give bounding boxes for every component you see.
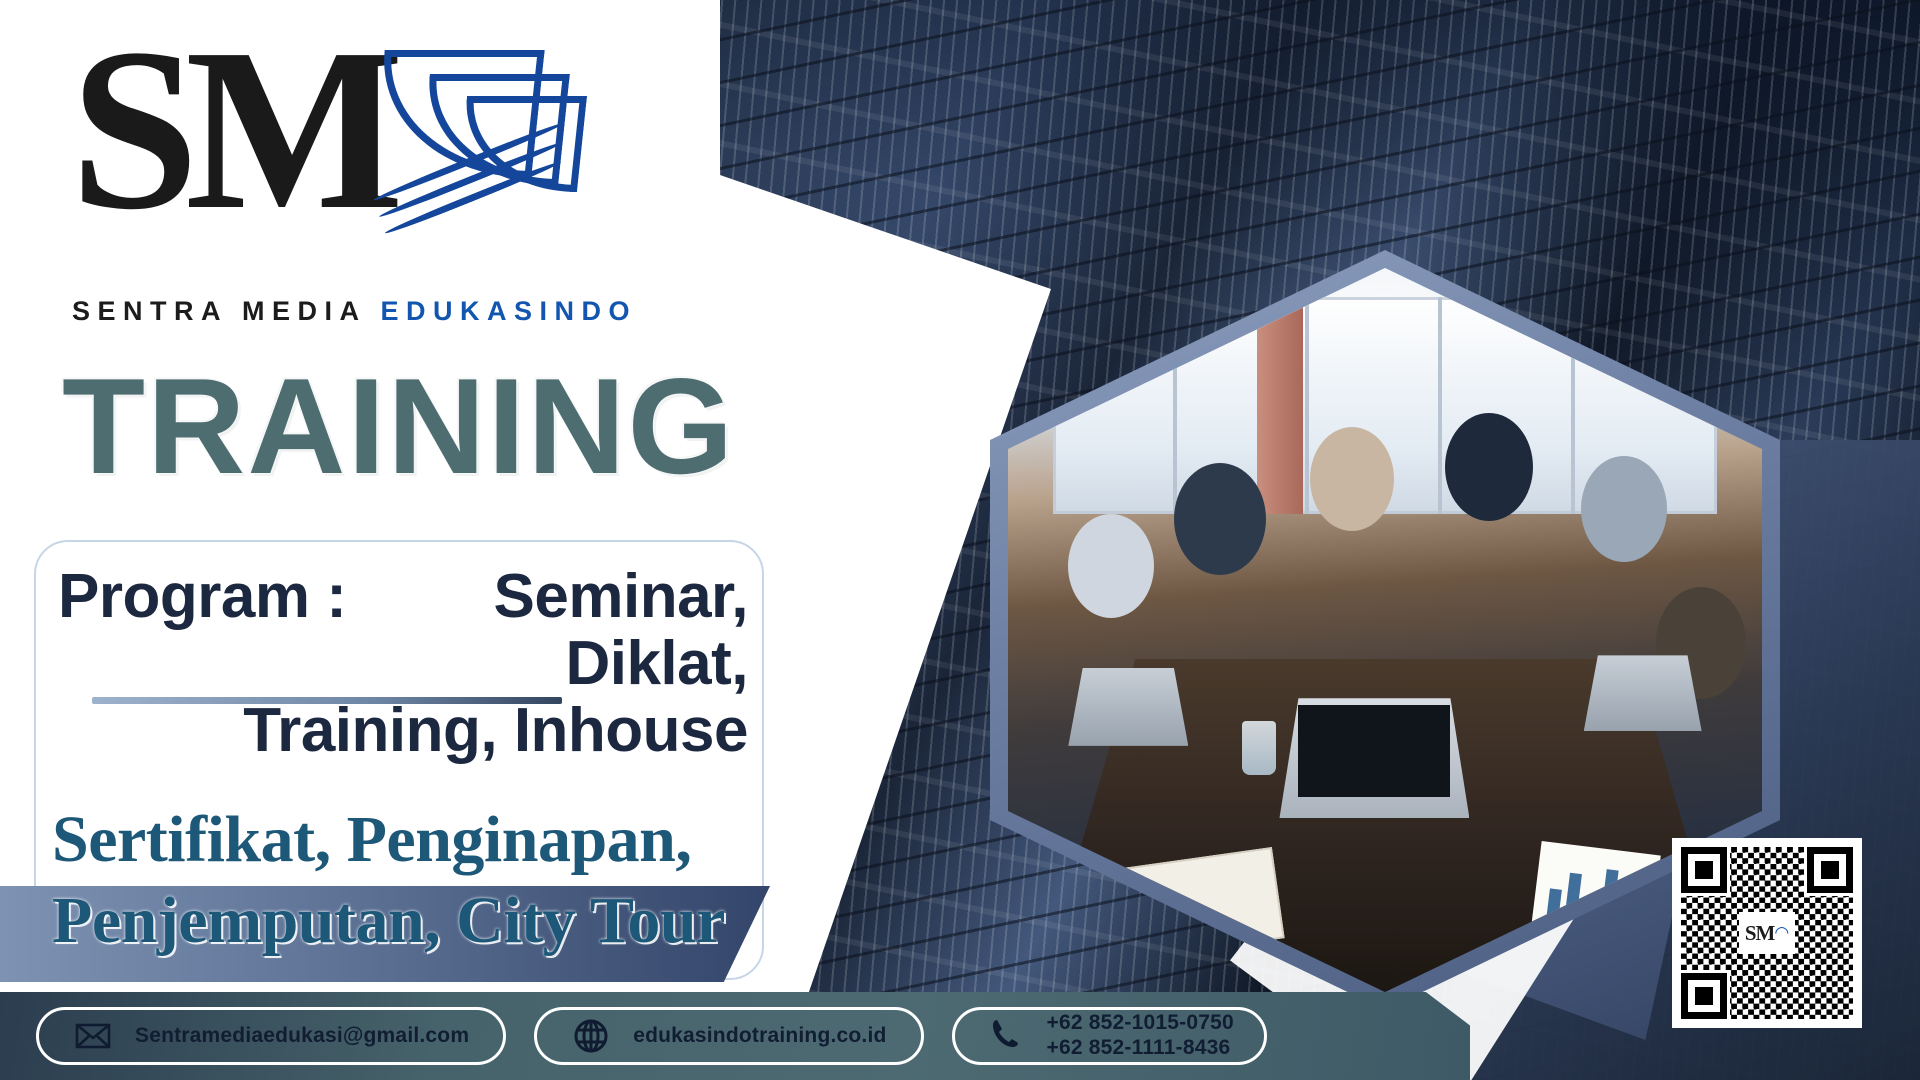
email-value: Sentramediaedukasi@gmail.com xyxy=(135,1024,469,1048)
person-1 xyxy=(1068,514,1154,618)
program-line-2: Training, Inhouse xyxy=(243,696,748,765)
page-title: TRAINING xyxy=(62,358,735,494)
person-4 xyxy=(1445,413,1533,521)
company-logo[interactable]: SM SENTRA MEDIA EDUKASINDO xyxy=(70,22,590,272)
qr-finder-top-right xyxy=(1807,847,1853,893)
phone-value-1: +62 852-1015-0750 xyxy=(1047,1011,1234,1036)
program-label: Program : xyxy=(58,564,346,631)
envelope-icon xyxy=(73,1016,113,1056)
qr-logo-text: SM xyxy=(1745,921,1775,946)
laptop-center xyxy=(1279,698,1469,818)
qr-center-logo: SM◠ xyxy=(1739,912,1795,954)
contact-email[interactable]: Sentramediaedukasi@gmail.com xyxy=(36,1007,506,1065)
water-glass xyxy=(1242,721,1276,775)
logo-mark: SM xyxy=(70,22,590,222)
phone-icon xyxy=(985,1016,1025,1056)
logo-tagline: SENTRA MEDIA EDUKASINDO xyxy=(72,296,637,327)
contact-bar: Sentramediaedukasi@gmail.com edukasindot… xyxy=(0,992,1470,1080)
website-value: edukasindotraining.co.id xyxy=(633,1024,886,1048)
open-book-icon xyxy=(362,40,592,210)
program-line-1: Seminar, Diklat, xyxy=(494,562,748,698)
window-curtain xyxy=(1257,297,1303,514)
person-2 xyxy=(1174,463,1266,575)
qr-finder-top-left xyxy=(1681,847,1727,893)
globe-icon xyxy=(571,1016,611,1056)
offer-block: Sertifikat, Penginapan, Penjemputan, Cit… xyxy=(52,800,772,961)
offer-line-1: Sertifikat, Penginapan, xyxy=(52,800,772,881)
person-3 xyxy=(1310,427,1394,531)
program-block: Program : Seminar, Diklat, Training, Inh… xyxy=(58,564,748,765)
laptop-left xyxy=(1068,668,1188,746)
hexagon-photo-frame xyxy=(990,250,1780,1010)
phone-values: +62 852-1015-0750 +62 852-1111-8436 xyxy=(1047,1011,1234,1061)
phone-value-2: +62 852-1111-8436 xyxy=(1047,1036,1234,1061)
offer-line-2: Penjemputan, City Tour xyxy=(52,881,772,962)
contact-phone[interactable]: +62 852-1015-0750 +62 852-1111-8436 xyxy=(952,1007,1267,1065)
qr-finder-bottom-left xyxy=(1681,973,1727,1019)
logo-tagline-dark: SENTRA MEDIA xyxy=(72,296,366,326)
person-5 xyxy=(1581,456,1667,562)
qr-code[interactable]: SM◠ xyxy=(1681,847,1853,1019)
decorative-divider xyxy=(92,697,562,704)
laptop-right xyxy=(1584,655,1702,731)
qr-logo-mark: ◠ xyxy=(1774,923,1789,943)
contact-website[interactable]: edukasindotraining.co.id xyxy=(534,1007,923,1065)
promotional-banner: SM◠ SM SENTRA MEDIA EDUKASINDO TRAINING … xyxy=(0,0,1920,1080)
logo-tagline-blue: EDUKASINDO xyxy=(381,296,638,326)
meeting-photo xyxy=(1008,268,1762,992)
qr-code-card[interactable]: SM◠ xyxy=(1672,838,1862,1028)
logo-monogram: SM xyxy=(70,14,390,246)
